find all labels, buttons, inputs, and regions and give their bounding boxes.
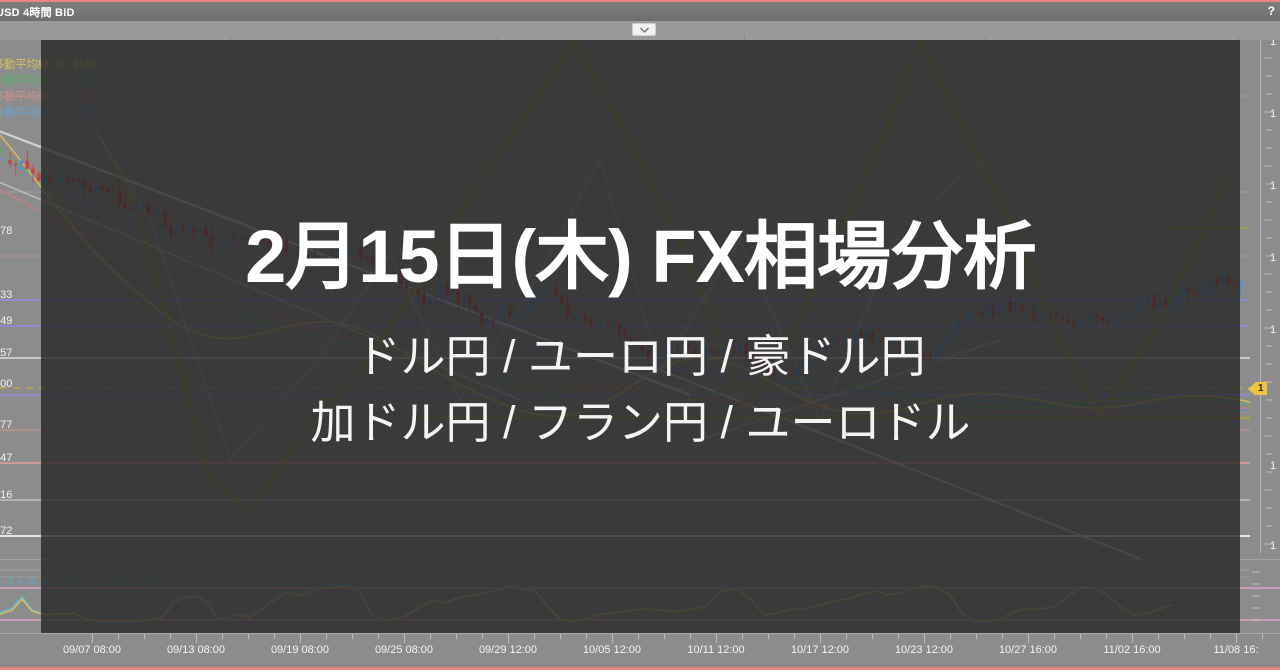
x-axis-minor-tick [690, 634, 691, 639]
price-label-right-3: 1 [1270, 252, 1276, 264]
x-axis-tick [1028, 634, 1029, 643]
x-axis-minor-tick [456, 634, 457, 639]
x-axis-minor-tick [1106, 634, 1107, 639]
x-axis-minor-tick [1158, 634, 1159, 639]
current-price-tag: 1 [1248, 382, 1267, 395]
x-axis-label: 11/02 16:00 [1103, 644, 1160, 656]
x-axis-minor-tick [1262, 634, 1263, 639]
price-label-right-5: 1 [1270, 460, 1276, 472]
x-axis-tick [92, 634, 93, 643]
x-axis-tick [1132, 634, 1133, 643]
chevron-down-icon[interactable] [632, 23, 656, 36]
x-axis-minor-tick [742, 634, 743, 639]
price-tag-value: 1 [1255, 382, 1267, 395]
x-axis-label: 10/11 12:00 [687, 644, 744, 656]
x-axis-minor-tick [560, 634, 561, 639]
price-label-left-4: 900 [0, 378, 12, 390]
x-axis-label: 11/08 16: [1213, 644, 1258, 656]
x-axis-tick [716, 634, 717, 643]
x-axis-tick [404, 634, 405, 643]
price-label-right-6: 1 [1270, 540, 1276, 552]
x-axis-minor-tick [846, 634, 847, 639]
price-label-left-7: 816 [0, 489, 12, 501]
help-icon[interactable]: ? [1268, 3, 1275, 20]
x-axis-minor-tick [430, 634, 431, 639]
x-axis-minor-tick [1080, 634, 1081, 639]
window-title-bar: USD 4時間 BID ? [0, 2, 1280, 21]
x-axis-label: 09/19 08:00 [271, 644, 329, 656]
x-axis-minor-tick [664, 634, 665, 639]
x-axis-minor-tick [1054, 634, 1055, 639]
x-axis-label: 09/25 08:00 [375, 644, 433, 656]
x-axis-label: 09/29 12:00 [479, 644, 537, 656]
x-axis-minor-tick [248, 634, 249, 639]
x-axis-tick [612, 634, 613, 643]
price-label-left-8: 472 [0, 525, 12, 537]
price-label-left-3: 357 [0, 347, 12, 359]
x-axis-label: 09/13 08:00 [167, 644, 225, 656]
x-axis-minor-tick [794, 634, 795, 639]
x-axis-label: 10/23 12:00 [895, 644, 953, 656]
x-axis-minor-tick [170, 634, 171, 639]
x-axis-minor-tick [898, 634, 899, 639]
x-axis-minor-tick [638, 634, 639, 639]
price-tag-arrow [1248, 383, 1255, 395]
x-axis-minor-tick [534, 634, 535, 639]
price-label-right-4: 1 [1270, 324, 1276, 336]
x-axis-minor-tick [326, 634, 327, 639]
price-label-right-0: 1 [1270, 40, 1276, 48]
x-axis-tick [820, 634, 821, 643]
x-axis-label: 09/07 08:00 [63, 644, 121, 656]
x-axis-minor-tick [1184, 634, 1185, 639]
x-axis-minor-tick [144, 634, 145, 639]
x-axis-minor-tick [118, 634, 119, 639]
x-axis-minor-tick [1210, 634, 1211, 639]
x-axis-minor-tick [976, 634, 977, 639]
x-axis-minor-tick [482, 634, 483, 639]
price-label-left-0: 678 [0, 225, 12, 237]
x-axis-minor-tick [768, 634, 769, 639]
x-axis-minor-tick [352, 634, 353, 639]
x-axis-tick [508, 634, 509, 643]
price-label-right-2: 1 [1270, 180, 1276, 192]
x-axis-minor-tick [950, 634, 951, 639]
x-axis-minor-tick [378, 634, 379, 639]
right-axis-line [1260, 40, 1261, 553]
x-axis-label: 10/27 16:00 [999, 644, 1057, 656]
x-axis-minor-tick [274, 634, 275, 639]
x-axis-minor-tick [586, 634, 587, 639]
price-label-left-5: 577 [0, 419, 12, 431]
price-label-right-1: 1 [1270, 108, 1276, 120]
x-axis-minor-tick [1002, 634, 1003, 639]
x-axis-minor-tick [222, 634, 223, 639]
right-axis-ticks [1252, 40, 1272, 560]
chart-window: USD 4時間 BID ? [0, 0, 1280, 670]
x-axis-tick [300, 634, 301, 643]
price-label-left-2: 749 [0, 315, 12, 327]
price-label-left-6: 247 [0, 452, 12, 464]
x-axis: 09/07 08:0009/13 08:0009/19 08:0009/25 0… [0, 633, 1280, 670]
x-axis-tick [196, 634, 197, 643]
x-axis-label: 10/17 12:00 [791, 644, 849, 656]
title-overlay-scrim [41, 40, 1240, 633]
window-title: USD 4時間 BID [0, 4, 75, 20]
x-axis-separator [0, 633, 1280, 634]
x-axis-label: 10/05 12:00 [583, 644, 641, 656]
x-axis-tick [1236, 634, 1237, 643]
x-axis-tick [924, 634, 925, 643]
price-label-left-1: 933 [0, 289, 12, 301]
x-axis-minor-tick [872, 634, 873, 639]
